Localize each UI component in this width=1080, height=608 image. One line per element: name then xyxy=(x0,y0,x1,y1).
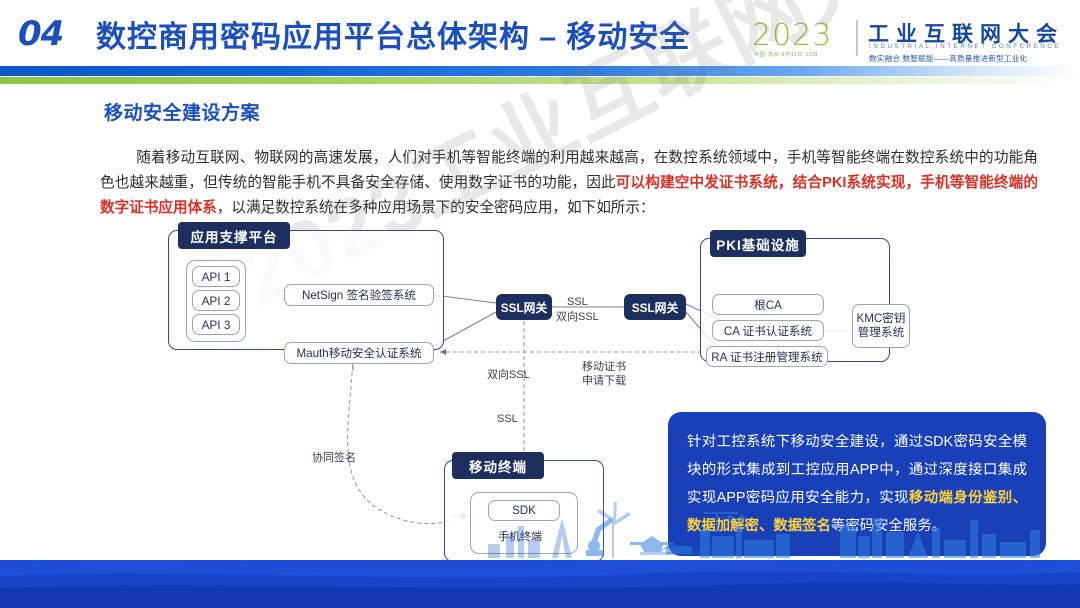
panel-title-application-support-platform: 应用支撑平台 xyxy=(178,222,290,249)
logo-tagline: 数实融合 数智赋能——高质量推进新型工业化 xyxy=(869,53,1027,64)
section-number: 04 xyxy=(18,14,63,54)
logo-year: 2023 xyxy=(752,18,832,53)
footer-wave xyxy=(0,556,1080,608)
label-mutual-ssl-top: 双向SSL xyxy=(556,310,599,324)
logo-divider xyxy=(856,20,858,56)
page-title: 数控商用密码应用平台总体架构 – 移动安全 xyxy=(96,12,690,56)
header-green-bar xyxy=(0,77,1080,84)
label-cooperative-signature: 协同签名 xyxy=(312,451,356,465)
mauth-system-box[interactable]: Mauth移动安全认证系统 xyxy=(284,342,434,364)
label-cert-apply-line2: 申请下载 xyxy=(582,374,626,388)
label-cert-apply-line1: 移动证书 xyxy=(582,360,626,374)
label-ssl-top: SSL xyxy=(567,295,588,309)
logo-year-subtitle: 中国·苏州 8月11日-13日 xyxy=(754,51,818,58)
kmc-label-line2: 管理系统 xyxy=(858,326,904,340)
panel-title-pki-infrastructure: PKI基础设施 xyxy=(710,230,806,257)
ssl-gateway-right[interactable]: SSL网关 xyxy=(624,294,686,320)
root-ca-box[interactable]: 根CA xyxy=(712,294,824,315)
ssl-gateway-left[interactable]: SSL网关 xyxy=(496,294,552,320)
api-1-box[interactable]: API 1 xyxy=(192,266,240,287)
section-title: 移动安全建设方案 xyxy=(104,98,260,125)
paragraph-part-2: ，以满足数控系统在多种应用场景下的安全密码应用，如下如所示： xyxy=(217,200,655,216)
body-paragraph: 随着移动互联网、物联网的高速发展，人们对手机等智能终端的利用越来越高，在数控系统… xyxy=(100,146,1038,221)
api-3-box[interactable]: API 3 xyxy=(192,314,240,335)
slide-root: 04 数控商用密码应用平台总体架构 – 移动安全 2023 中国·苏州 8月11… xyxy=(0,0,1080,608)
netsign-system-box[interactable]: NetSign 签名验签系统 xyxy=(284,284,434,306)
label-mutual-ssl-left: 双向SSL xyxy=(487,368,530,382)
logo-conference-name-en: INDUSTRIAL INTERNET CONFERENCE xyxy=(869,43,1061,50)
ra-registration-system-box[interactable]: RA 证书注册管理系统 xyxy=(706,346,828,367)
kmc-label-line1: KMC密钥 xyxy=(857,312,906,326)
label-ssl-mid: SSL xyxy=(497,412,518,426)
conference-logo: 2023 中国·苏州 8月11日-13日 工业互联网大会 INDUSTRIAL … xyxy=(752,16,1074,68)
ca-certification-system-box[interactable]: CA 证书认证系统 xyxy=(712,320,824,341)
api-2-box[interactable]: API 2 xyxy=(192,290,240,311)
panel-title-mobile-terminal: 移动终端 xyxy=(452,452,544,479)
kmc-key-management-box[interactable]: KMC密钥 管理系统 xyxy=(852,304,910,348)
